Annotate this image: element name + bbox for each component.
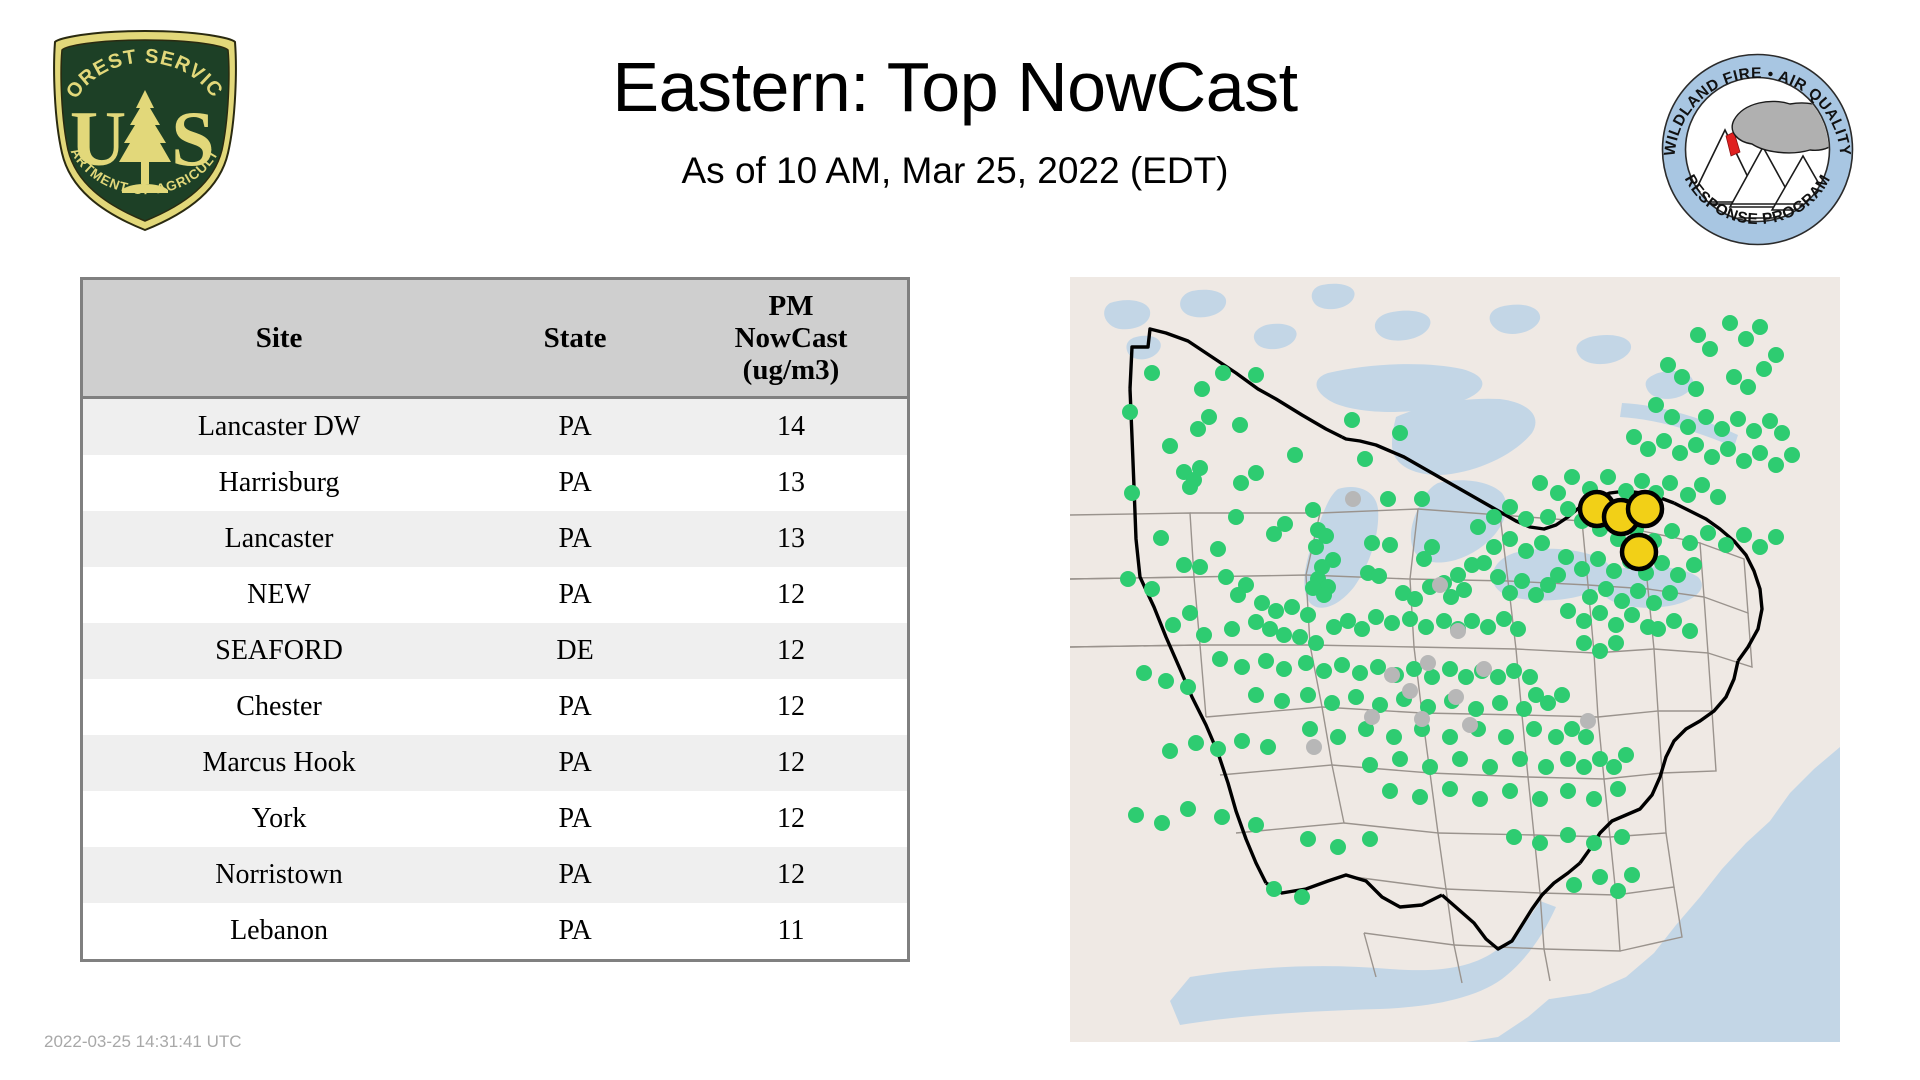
svg-text:S: S xyxy=(171,95,214,182)
usda-forest-service-logo: FOREST SERVICE DEPARTMENT OF AGRICULTURE… xyxy=(50,28,240,233)
page-title: Eastern: Top NowCast xyxy=(260,48,1650,126)
table-row: YorkPA12 xyxy=(83,791,907,847)
table-row: SEAFORDDE12 xyxy=(83,623,907,679)
table-cell-state: PA xyxy=(475,567,675,623)
table-cell-state: DE xyxy=(475,623,675,679)
table-cell-site: Marcus Hook xyxy=(83,735,475,791)
table-cell-pm-nowcast: 12 xyxy=(675,623,907,679)
table-cell-site: SEAFORD xyxy=(83,623,475,679)
table-row: HarrisburgPA13 xyxy=(83,455,907,511)
table-cell-pm-nowcast: 12 xyxy=(675,567,907,623)
forest-service-shield-icon: FOREST SERVICE DEPARTMENT OF AGRICULTURE… xyxy=(50,28,240,233)
table-cell-pm-nowcast: 12 xyxy=(675,791,907,847)
table-cell-state: PA xyxy=(475,903,675,959)
column-header-state: State xyxy=(475,280,675,398)
table-cell-site: NEW xyxy=(83,567,475,623)
table-cell-state: PA xyxy=(475,511,675,567)
table-cell-site: Lancaster DW xyxy=(83,398,475,456)
table-cell-pm-nowcast: 12 xyxy=(675,679,907,735)
table-row: LebanonPA11 xyxy=(83,903,907,959)
table-cell-pm-nowcast: 13 xyxy=(675,511,907,567)
table-cell-pm-nowcast: 11 xyxy=(675,903,907,959)
header-title-block: Eastern: Top NowCast As of 10 AM, Mar 25… xyxy=(260,48,1650,194)
map-canvas[interactable] xyxy=(1070,277,1840,1042)
table-row: NorristownPA12 xyxy=(83,847,907,903)
table-row: Marcus HookPA12 xyxy=(83,735,907,791)
table-cell-site: Harrisburg xyxy=(83,455,475,511)
highlighted-site-marker[interactable] xyxy=(1622,535,1656,569)
table-row: NEWPA12 xyxy=(83,567,907,623)
wfaqrp-seal-icon: WILDLAND FIRE • AIR QUALITY RESPONSE PRO… xyxy=(1660,52,1855,247)
table-row: Lancaster DWPA14 xyxy=(83,398,907,456)
table-cell-pm-nowcast: 14 xyxy=(675,398,907,456)
table-cell-pm-nowcast: 12 xyxy=(675,847,907,903)
table-header-row: Site State PM NowCast (ug/m3) xyxy=(83,280,907,398)
top-nowcast-table-container: Site State PM NowCast (ug/m3) Lancaster … xyxy=(80,277,910,962)
column-header-pm-nowcast: PM NowCast (ug/m3) xyxy=(675,280,907,398)
table-cell-state: PA xyxy=(475,455,675,511)
top-nowcast-table: Site State PM NowCast (ug/m3) Lancaster … xyxy=(83,280,907,959)
column-header-site: Site xyxy=(83,280,475,398)
page-subtitle: As of 10 AM, Mar 25, 2022 (EDT) xyxy=(260,148,1650,194)
table-cell-state: PA xyxy=(475,791,675,847)
table-body: Lancaster DWPA14HarrisburgPA13LancasterP… xyxy=(83,398,907,960)
table-cell-site: Chester xyxy=(83,679,475,735)
table-cell-state: PA xyxy=(475,847,675,903)
table-cell-pm-nowcast: 12 xyxy=(675,735,907,791)
table-cell-pm-nowcast: 13 xyxy=(675,455,907,511)
table-header: Site State PM NowCast (ug/m3) xyxy=(83,280,907,398)
svg-text:U: U xyxy=(70,95,126,182)
table-row: LancasterPA13 xyxy=(83,511,907,567)
table-cell-site: Lancaster xyxy=(83,511,475,567)
table-row: ChesterPA12 xyxy=(83,679,907,735)
table-cell-site: York xyxy=(83,791,475,847)
wildland-fire-air-quality-response-program-logo: WILDLAND FIRE • AIR QUALITY RESPONSE PRO… xyxy=(1660,52,1855,247)
table-cell-state: PA xyxy=(475,679,675,735)
table-cell-site: Norristown xyxy=(83,847,475,903)
table-cell-state: PA xyxy=(475,398,675,456)
table-cell-site: Lebanon xyxy=(83,903,475,959)
generation-timestamp: 2022-03-25 14:31:41 UTC xyxy=(44,1032,242,1052)
highlighted-site-marker[interactable] xyxy=(1628,492,1662,526)
table-cell-state: PA xyxy=(475,735,675,791)
air-quality-map[interactable]: Air Quality Index HazardousVery Unhealth… xyxy=(1070,277,1840,1042)
